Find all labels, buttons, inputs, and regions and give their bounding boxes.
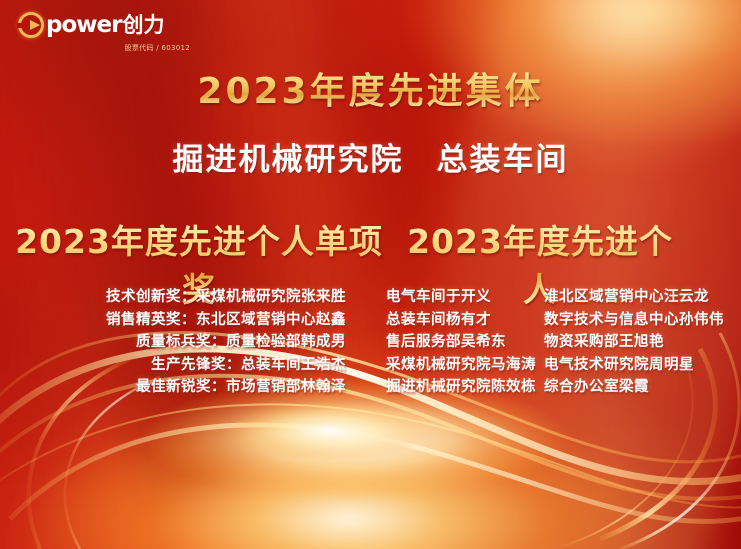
power-logo-icon [18, 12, 44, 38]
list-item: 质量标兵奖： 质量检验部韩成男 [46, 331, 346, 354]
stock-code: 股票代码 / 603012 [18, 43, 190, 53]
award-label: 质量标兵奖： [136, 331, 226, 354]
award-label: 最佳新锐奖： [136, 376, 226, 399]
award-label: 技术创新奖： [106, 286, 196, 309]
award-recipient: 掘进机械研究院陈效栋 [386, 376, 544, 399]
award-banner: power 创力 股票代码 / 603012 2023年度先进集体 掘进机械研究… [0, 0, 741, 549]
list-item: 最佳新锐奖： 市场营销部林翰泽 [46, 376, 346, 399]
logo-name-cn: 创力 [122, 12, 164, 38]
award-recipient: 售后服务部吴希东 [386, 331, 544, 354]
page-subtitle: 掘进机械研究院 总装车间 [0, 134, 741, 179]
award-label: 销售精英奖： [106, 309, 196, 332]
award-recipient: 质量检验部韩成男 [226, 331, 346, 354]
award-recipient: 电气技术研究院周明星 [544, 354, 731, 377]
award-recipient: 采煤机械研究院马海涛 [386, 354, 544, 377]
award-recipient: 采煤机械研究院张来胜 [196, 286, 346, 309]
award-label: 生产先锋奖： [151, 354, 241, 377]
award-recipient: 数字技术与信息中心孙伟伟 [544, 309, 731, 332]
logo-name-en: power [46, 12, 121, 38]
list-item: 技术创新奖： 采煤机械研究院张来胜 [46, 286, 346, 309]
award-recipient: 淮北区域营销中心汪云龙 [544, 286, 731, 309]
award-recipient: 总装车间杨有才 [386, 309, 544, 332]
list-item: 生产先锋奖： 总装车间王浩杰 [46, 354, 346, 377]
award-recipient: 电气车间于开义 [386, 286, 544, 309]
list-item: 总装车间杨有才 数字技术与信息中心孙伟伟 [386, 309, 731, 332]
award-recipient: 总装车间王浩杰 [241, 354, 346, 377]
award-recipient: 综合办公室梁霞 [544, 376, 731, 399]
logo-row: power 创力 [18, 10, 218, 40]
award-recipient: 物资采购部王旭艳 [544, 331, 731, 354]
company-logo: power 创力 股票代码 / 603012 [18, 10, 218, 53]
list-item: 销售精英奖： 东北区域营销中心赵鑫 [46, 309, 346, 332]
list-item: 采煤机械研究院马海涛 电气技术研究院周明星 [386, 354, 731, 377]
award-list-right: 电气车间于开义 淮北区域营销中心汪云龙 总装车间杨有才 数字技术与信息中心孙伟伟… [386, 286, 731, 399]
award-recipient: 东北区域营销中心赵鑫 [196, 309, 346, 332]
list-item: 掘进机械研究院陈效栋 综合办公室梁霞 [386, 376, 731, 399]
award-recipient: 市场营销部林翰泽 [226, 376, 346, 399]
list-item: 售后服务部吴希东 物资采购部王旭艳 [386, 331, 731, 354]
page-title: 2023年度先进集体 [0, 62, 741, 114]
list-item: 电气车间于开义 淮北区域营销中心汪云龙 [386, 286, 731, 309]
award-list-left: 技术创新奖： 采煤机械研究院张来胜 销售精英奖： 东北区域营销中心赵鑫 质量标兵… [46, 286, 346, 399]
